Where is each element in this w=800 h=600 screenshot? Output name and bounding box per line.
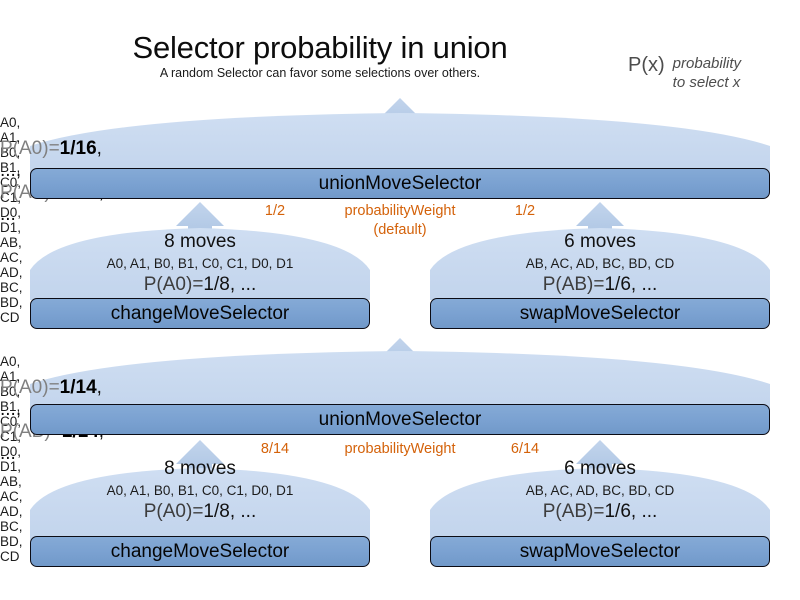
- weight-left-fair: 8/14: [240, 441, 310, 457]
- union-move-selector-bar-fair[interactable]: unionMoveSelector: [30, 404, 770, 435]
- weight-right-default: 1/2: [495, 203, 555, 219]
- dome-bottom-change: [30, 468, 370, 540]
- swap-move-selector-bar-default[interactable]: swapMoveSelector: [430, 298, 770, 329]
- union-move-selector-bar-default[interactable]: unionMoveSelector: [30, 168, 770, 199]
- weight-left-default: 1/2: [245, 203, 305, 219]
- weight-label-fair: probabilityWeight: [320, 441, 480, 457]
- change-move-selector-bar-fair[interactable]: changeMoveSelector: [30, 536, 370, 567]
- diagram-canvas: Selector probability in union A random S…: [0, 0, 800, 600]
- change-move-selector-bar-default[interactable]: changeMoveSelector: [30, 298, 370, 329]
- dome-top-swap: [430, 228, 770, 300]
- weight-label-default-note: (default): [320, 222, 480, 238]
- dome-top-change: [30, 228, 370, 300]
- weight-label-default: probabilityWeight: [320, 203, 480, 219]
- weight-right-fair: 6/14: [490, 441, 560, 457]
- dome-bottom-swap: [430, 468, 770, 540]
- swap-move-selector-bar-fair[interactable]: swapMoveSelector: [430, 536, 770, 567]
